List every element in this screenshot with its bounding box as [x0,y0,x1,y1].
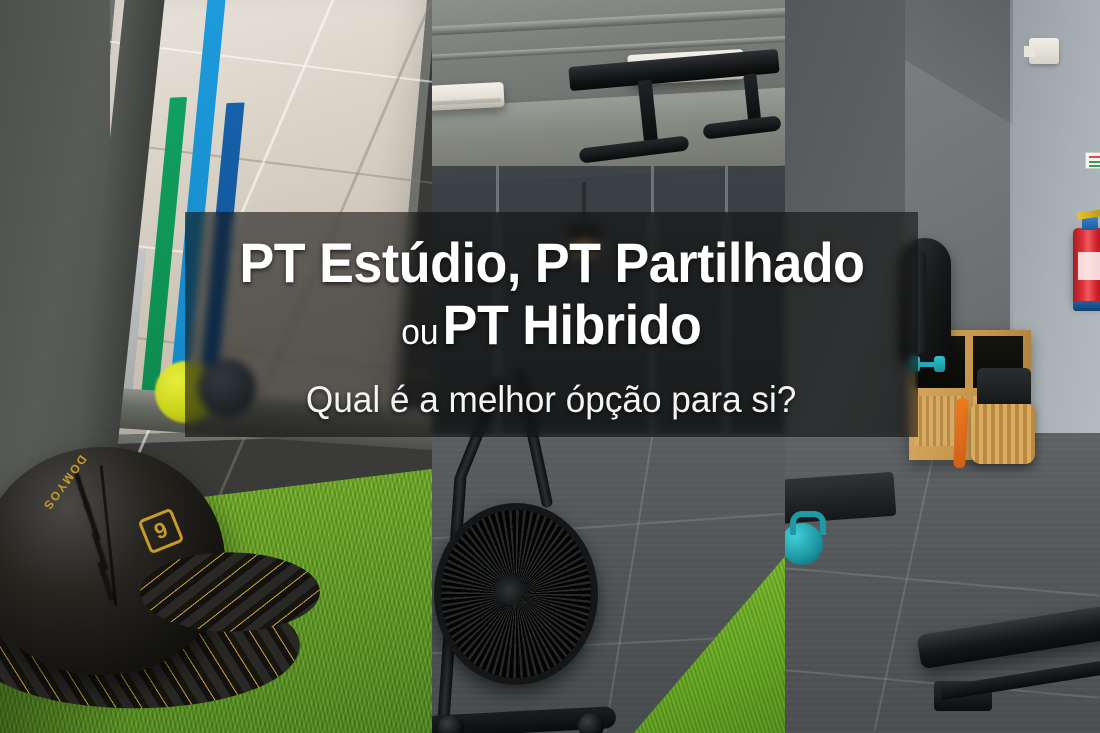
headline-emphasis: PT Hibrido [443,293,702,356]
gym-promo-banner: DOMYOS 9 [0,0,1100,733]
tile-seam-v [605,435,654,732]
subtitle-question: Qual é a melhor ópção para si? [306,377,796,423]
tile-seam-h [786,567,1100,596]
emergency-light [1029,38,1059,64]
wicker-basket-floor [971,404,1035,464]
headline-overlay: PT Estúdio, PT Partilhado ou PT Hibrido … [185,212,918,437]
air-bike-wheel-right [578,713,604,733]
safety-sign [1085,152,1100,169]
medicine-ball-weight-label: 9 [138,508,185,555]
headline-line-2: ou PT Hibrido [401,294,701,371]
fire-extinguisher [1073,228,1100,304]
air-conditioner-unit-left [432,82,505,111]
headline-line-1: PT Estúdio, PT Partilhado [239,232,864,294]
air-bike-hub [494,575,524,605]
headline-conjunction: ou [401,311,438,352]
